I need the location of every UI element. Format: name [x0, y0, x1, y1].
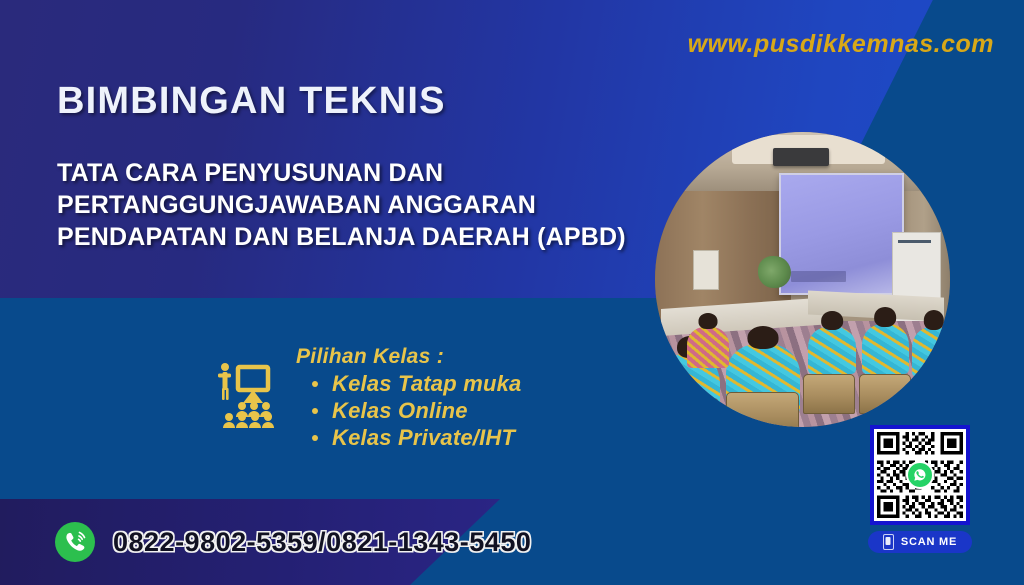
list-item: Kelas Online	[332, 397, 521, 424]
attendee	[687, 327, 728, 368]
scan-me-label: SCAN ME	[901, 536, 957, 548]
subtitle-line-1: TATA CARA PENYUSUNAN DAN	[57, 157, 626, 189]
projection-screen	[779, 173, 904, 295]
list-item: Kelas Tatap muka	[332, 370, 521, 397]
class-options-text: Pilihan Kelas : Kelas Tatap muka Kelas O…	[296, 345, 521, 451]
subtitle: TATA CARA PENYUSUNAN DAN PERTANGGUNGJAWA…	[57, 157, 626, 253]
chair	[658, 398, 719, 428]
attendee	[808, 327, 855, 374]
projector	[773, 148, 829, 166]
seminar-photo	[655, 132, 950, 427]
plant-decor	[758, 256, 790, 288]
whatsapp-phone-icon[interactable]	[54, 521, 96, 563]
class-options-list: Kelas Tatap muka Kelas Online Kelas Priv…	[296, 370, 521, 451]
photo-content	[655, 132, 950, 427]
training-presentation-icon	[212, 359, 284, 431]
qr-code[interactable]	[870, 425, 970, 525]
chair	[859, 374, 911, 414]
qr-block[interactable]: SCAN ME	[864, 425, 976, 553]
class-options-heading: Pilihan Kelas :	[296, 345, 521, 369]
whatsapp-logo-icon	[906, 461, 934, 489]
contact-row[interactable]: 0822-9802-5359/0821-1343-5450	[54, 521, 531, 563]
chair	[726, 392, 799, 427]
chair	[912, 377, 950, 414]
page-title: BIMBINGAN TEKNIS	[57, 80, 446, 123]
subtitle-line-3: PENDAPATAN DAN BELANJA DAERAH (APBD)	[57, 221, 626, 253]
attendee	[862, 324, 909, 374]
class-options-block: Pilihan Kelas : Kelas Tatap muka Kelas O…	[212, 345, 521, 451]
subtitle-line-2: PERTANGGUNGJAWABAN ANGGARAN	[57, 189, 626, 221]
phone-numbers: 0822-9802-5359/0821-1343-5450	[113, 527, 531, 558]
phone-icon	[883, 534, 894, 550]
list-item: Kelas Private/IHT	[332, 424, 521, 451]
website-url: www.pusdikkemnas.com	[688, 30, 994, 59]
scan-me-button[interactable]: SCAN ME	[868, 531, 972, 553]
attendee	[912, 327, 950, 377]
promotional-banner: www.pusdikkemnas.com BIMBINGAN TEKNIS TA…	[0, 0, 1024, 585]
chair	[803, 374, 855, 414]
